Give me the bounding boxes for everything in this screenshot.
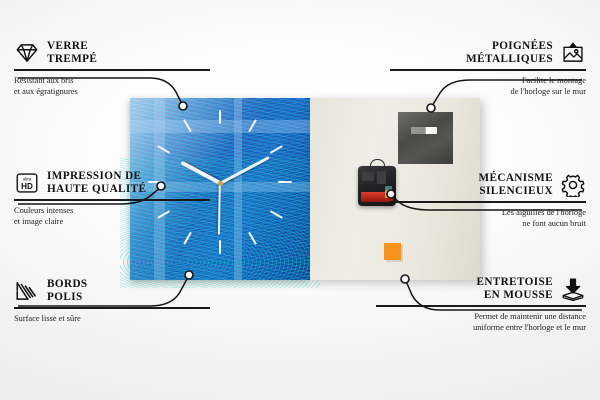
svg-text:HD: HD	[21, 182, 33, 191]
clock-tick	[278, 181, 292, 183]
clock-center-cap	[218, 181, 223, 186]
clock-tick	[219, 110, 221, 124]
feature-description: Facilite le montage de l'horloge sur le …	[390, 75, 586, 97]
feature-description: Surface lisse et sûre	[14, 313, 210, 324]
feature-description: Permet de maintenir une distance uniform…	[376, 311, 586, 333]
feature-entretoise-en-mousse: ENTRETOISE EN MOUSSE Permet de maintenir…	[376, 276, 586, 333]
feature-mecanisme-silencieux: MÉCANISME SILENCIEUX Les aiguilles de l'…	[390, 172, 586, 229]
infographic-canvas: VERRE TREMPÉ Résistant aux bris et aux é…	[0, 0, 600, 400]
feature-verre-trempe: VERRE TREMPÉ Résistant aux bris et aux é…	[14, 40, 210, 97]
foam-spacer-arrow-icon	[560, 277, 586, 301]
feature-description: Résistant aux bris et aux égratignures	[14, 75, 210, 97]
feature-divider	[14, 307, 210, 309]
feature-divider	[14, 69, 210, 71]
feature-divider	[376, 305, 586, 307]
feature-header: POIGNÉES MÉTALLIQUES	[390, 40, 586, 66]
movement-detail	[362, 172, 374, 181]
feature-divider	[390, 201, 586, 203]
movement-detail	[377, 171, 386, 184]
feature-header: ultra HD IMPRESSION DE HAUTE QUALITÉ	[14, 170, 210, 196]
hanger-slot	[411, 127, 437, 134]
foam-spacer	[384, 243, 401, 260]
feature-header: ENTRETOISE EN MOUSSE	[376, 276, 586, 302]
metal-hanger-plate	[398, 112, 453, 164]
feature-bords-polis: BORDS POLIS Surface lisse et sûre	[14, 278, 210, 324]
feature-divider	[390, 69, 586, 71]
feature-title: ENTRETOISE EN MOUSSE	[476, 276, 553, 302]
clock-tick	[219, 240, 221, 254]
diamond-icon	[14, 41, 40, 65]
feature-description: Les aiguilles de l'horloge ne font aucun…	[390, 207, 586, 229]
feature-title: IMPRESSION DE HAUTE QUALITÉ	[47, 170, 146, 196]
picture-hanger-icon	[560, 41, 586, 65]
feature-impression-haute-qualite: ultra HD IMPRESSION DE HAUTE QUALITÉ Cou…	[14, 170, 210, 227]
feature-header: VERRE TREMPÉ	[14, 40, 210, 66]
feature-header: BORDS POLIS	[14, 278, 210, 304]
feature-title: MÉCANISME SILENCIEUX	[479, 172, 553, 198]
feature-divider	[14, 199, 210, 201]
svg-text:ultra: ultra	[23, 177, 32, 182]
gear-icon	[560, 173, 586, 197]
feature-title: VERRE TREMPÉ	[47, 40, 97, 66]
movement-hanging-loop	[370, 159, 385, 168]
feature-title: POIGNÉES MÉTALLIQUES	[466, 40, 553, 66]
feature-poignees-metalliques: POIGNÉES MÉTALLIQUES Facilite le montage…	[390, 40, 586, 97]
feature-description: Couleurs intenses et image claire	[14, 205, 210, 227]
feature-header: MÉCANISME SILENCIEUX	[390, 172, 586, 198]
ultra-hd-icon: ultra HD	[14, 171, 40, 195]
polished-edges-icon	[14, 279, 40, 303]
feature-title: BORDS POLIS	[47, 278, 88, 304]
